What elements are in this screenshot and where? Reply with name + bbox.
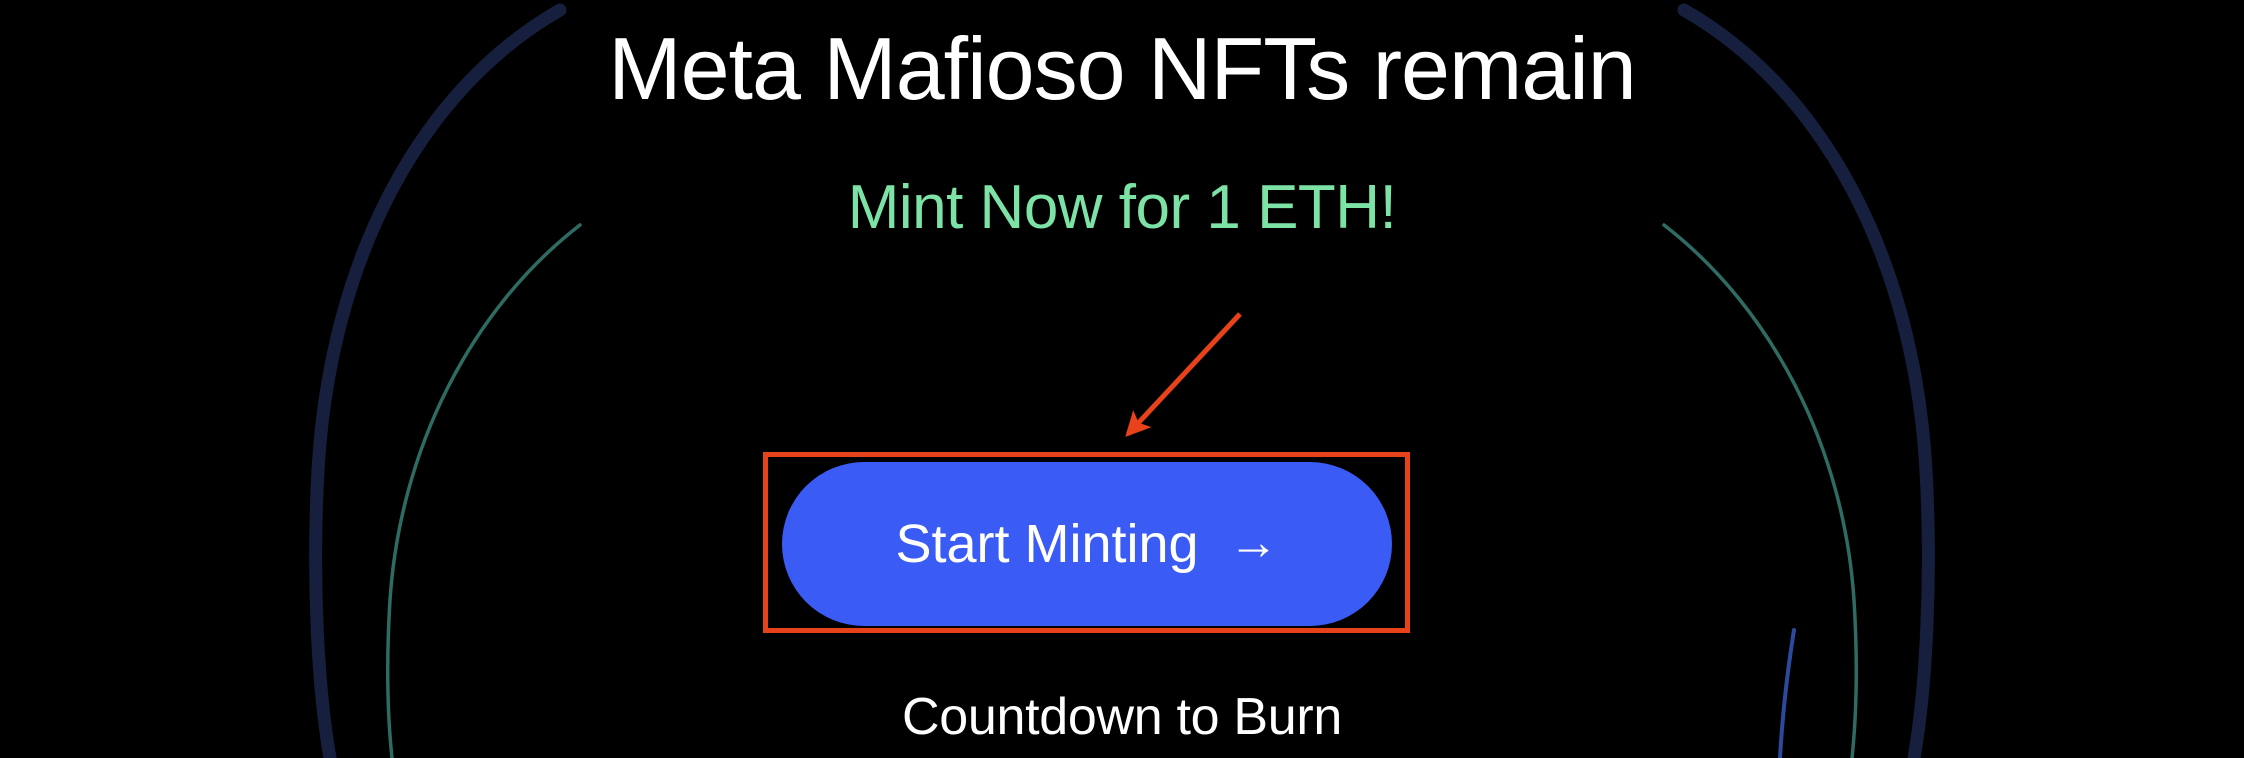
arrow-right-icon: →: [1229, 517, 1279, 567]
countdown-to-burn-label: Countdown to Burn: [0, 688, 2244, 748]
page-title: Meta Mafioso NFTs remain: [0, 20, 2244, 119]
hero-content: Meta Mafioso NFTs remain Mint Now for 1 …: [0, 0, 2244, 758]
start-minting-button[interactable]: Start Minting →: [782, 462, 1392, 626]
mint-hero-screen: Meta Mafioso NFTs remain Mint Now for 1 …: [0, 0, 2244, 758]
start-minting-button-wrapper[interactable]: Start Minting →: [782, 462, 1392, 626]
start-minting-button-label: Start Minting: [895, 513, 1198, 575]
mint-price-subtitle: Mint Now for 1 ETH!: [0, 172, 2244, 243]
